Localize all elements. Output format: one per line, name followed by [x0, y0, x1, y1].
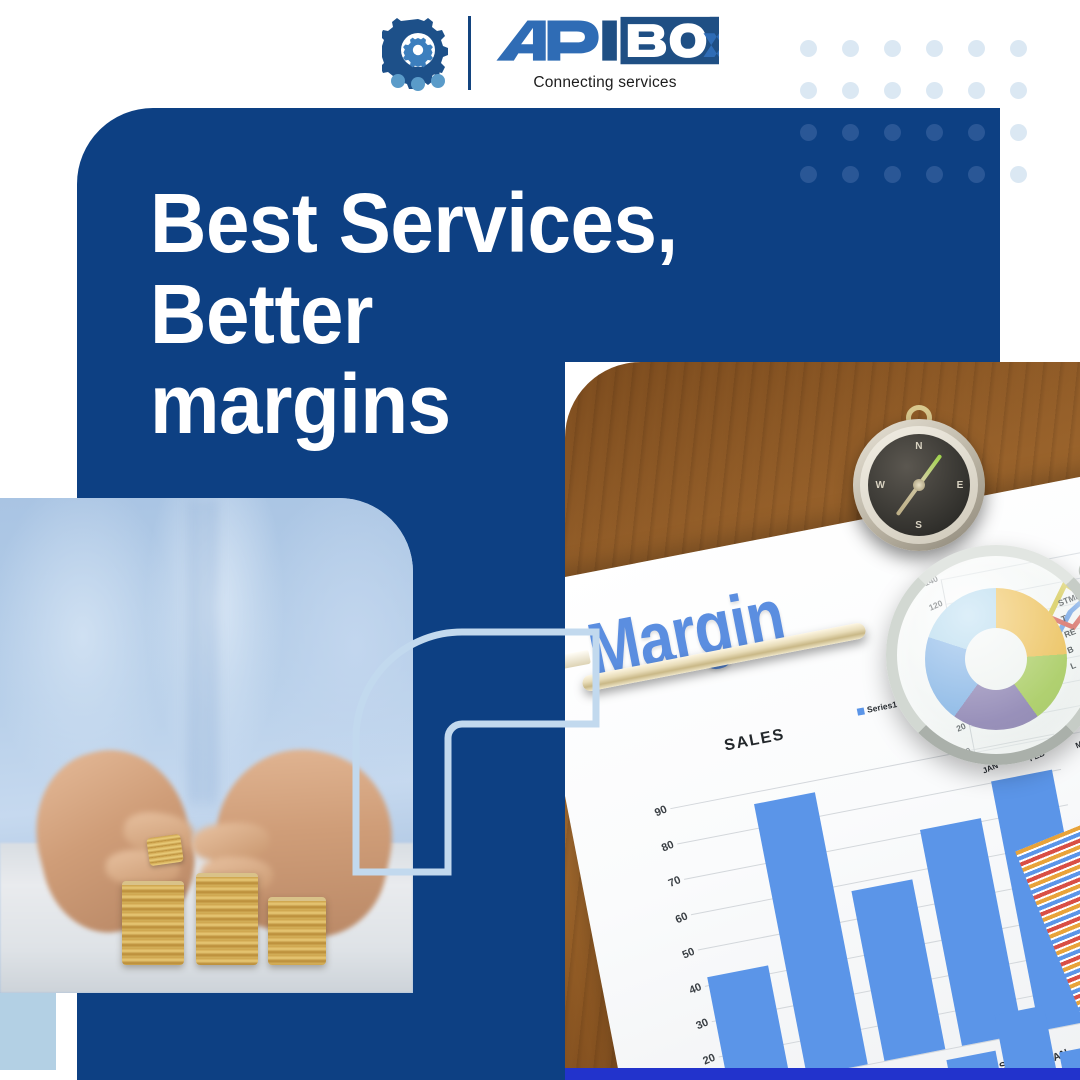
- financial-report-desk-photo: N E S W Margin SALES: [565, 362, 1080, 1080]
- magnifying-glass-icon: [886, 545, 1080, 765]
- dot: [884, 82, 901, 99]
- dot: [1010, 124, 1027, 141]
- dot: [800, 40, 817, 57]
- coin-stack: [268, 897, 326, 965]
- dot: [842, 40, 859, 57]
- dot: [1010, 40, 1027, 57]
- bar-ytick: 90: [652, 803, 668, 819]
- dot: [800, 82, 817, 99]
- dot: [926, 82, 943, 99]
- bar-ytick: 50: [680, 945, 696, 961]
- dot: [968, 82, 985, 99]
- bar-ytick: 20: [701, 1051, 717, 1067]
- bar-ytick: 60: [673, 910, 689, 926]
- rounded-corner-outline: [352, 628, 600, 876]
- compass-n: N: [915, 441, 922, 452]
- shirt-fold: [190, 498, 216, 805]
- dot: [884, 40, 901, 57]
- held-coin: [146, 834, 184, 866]
- brand-logo: Connecting services: [382, 12, 719, 94]
- compass-s: S: [915, 520, 922, 531]
- coin-stack: [122, 881, 184, 965]
- bar-ytick: 80: [659, 839, 675, 855]
- dot: [968, 40, 985, 57]
- logo-wordmark: Connecting services: [485, 15, 719, 92]
- bar-ytick: 70: [666, 874, 682, 890]
- dot: [926, 40, 943, 57]
- magnifier-rim: [886, 545, 1080, 765]
- page-title-line-2: margins: [150, 357, 451, 451]
- poster-canvas: Connecting services Best Services, Bette…: [0, 0, 1080, 1080]
- legend-swatch: [856, 707, 864, 715]
- blue-footer-strip: [565, 1068, 1080, 1080]
- dot: [1010, 166, 1027, 183]
- logo-tagline: Connecting services: [533, 74, 676, 92]
- sales-label: SALES: [723, 726, 787, 755]
- page-title: Best Services, Better margins: [150, 178, 894, 450]
- gear-network-icon: [382, 15, 454, 91]
- dot: [842, 82, 859, 99]
- bar-ytick: 30: [694, 1016, 710, 1032]
- compass-e: E: [957, 480, 964, 491]
- compass-w: W: [876, 480, 885, 491]
- logo-words: [491, 15, 719, 73]
- page-title-line-1: Best Services, Better: [150, 176, 678, 361]
- coin-stack: [196, 873, 258, 965]
- logo-divider: [468, 16, 471, 90]
- bar-ytick: 40: [687, 981, 703, 997]
- dot: [1010, 82, 1027, 99]
